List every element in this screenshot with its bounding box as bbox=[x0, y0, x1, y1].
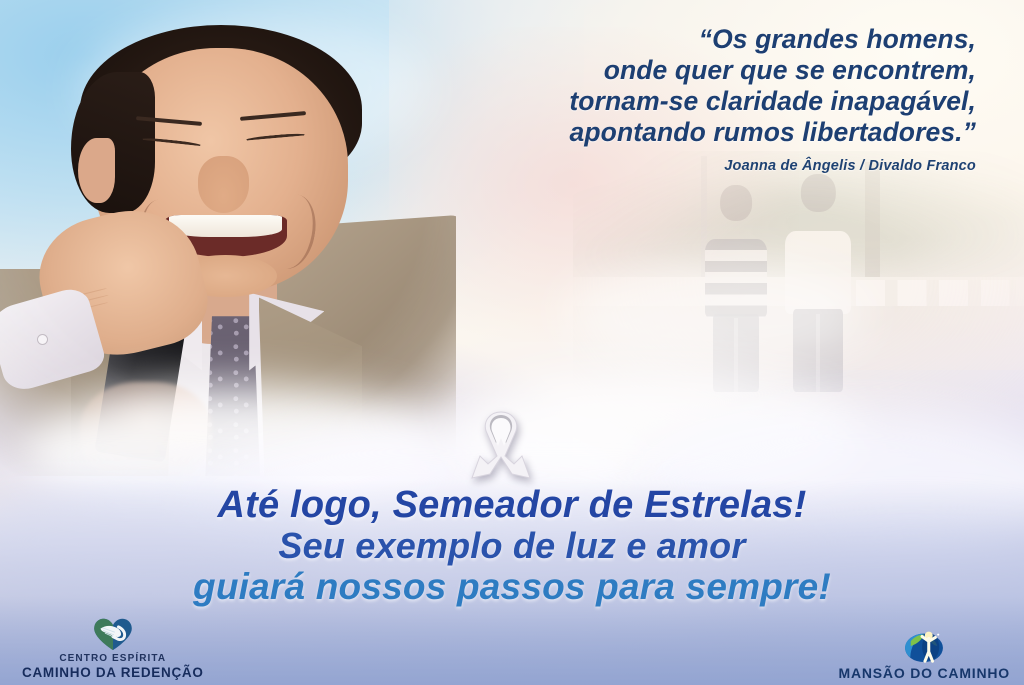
nose bbox=[198, 156, 250, 212]
logo-right-name: MANSÃO DO CAMINHO bbox=[839, 665, 1010, 681]
logo-mansao-do-caminho[interactable]: MANSÃO DO CAMINHO bbox=[839, 628, 1010, 681]
quote-line-4: apontando rumos libertadores.” bbox=[416, 117, 976, 148]
headline-block: Até logo, Semeador de Estrelas! Seu exem… bbox=[0, 484, 1024, 607]
scene-fence bbox=[856, 280, 1016, 306]
quote-attribution: Joanna de Ângelis / Divaldo Franco bbox=[416, 158, 976, 174]
globe-figure-icon bbox=[901, 628, 947, 664]
white-mourning-ribbon-icon bbox=[468, 404, 534, 482]
logo-left-line-1: CENTRO ESPÍRITA bbox=[59, 653, 166, 665]
logo-left-line-2: CAMINHO DA REDENÇÃO bbox=[22, 665, 204, 681]
quote-line-2: onde quer que se encontrem, bbox=[416, 55, 976, 86]
cuff-button bbox=[38, 335, 47, 344]
quote-line-3: tornam-se claridade inapagável, bbox=[416, 86, 976, 117]
quote-block: “Os grandes homens, onde quer que se enc… bbox=[416, 24, 976, 174]
logo-centro-espirita[interactable]: CENTRO ESPÍRITA CAMINHO DA REDENÇÃO bbox=[22, 617, 204, 681]
headline-line-3: guiará nossos passos para sempre! bbox=[0, 566, 1024, 607]
headline-line-2: Seu exemplo de luz e amor bbox=[0, 526, 1024, 566]
ear bbox=[78, 138, 116, 204]
heart-hands-icon bbox=[91, 617, 135, 651]
cloud-puff bbox=[563, 260, 870, 370]
headline-line-1: Até logo, Semeador de Estrelas! bbox=[0, 484, 1024, 526]
quote-line-1: “Os grandes homens, bbox=[416, 24, 976, 55]
memorial-poster: “Os grandes homens, onde quer que se enc… bbox=[0, 0, 1024, 685]
